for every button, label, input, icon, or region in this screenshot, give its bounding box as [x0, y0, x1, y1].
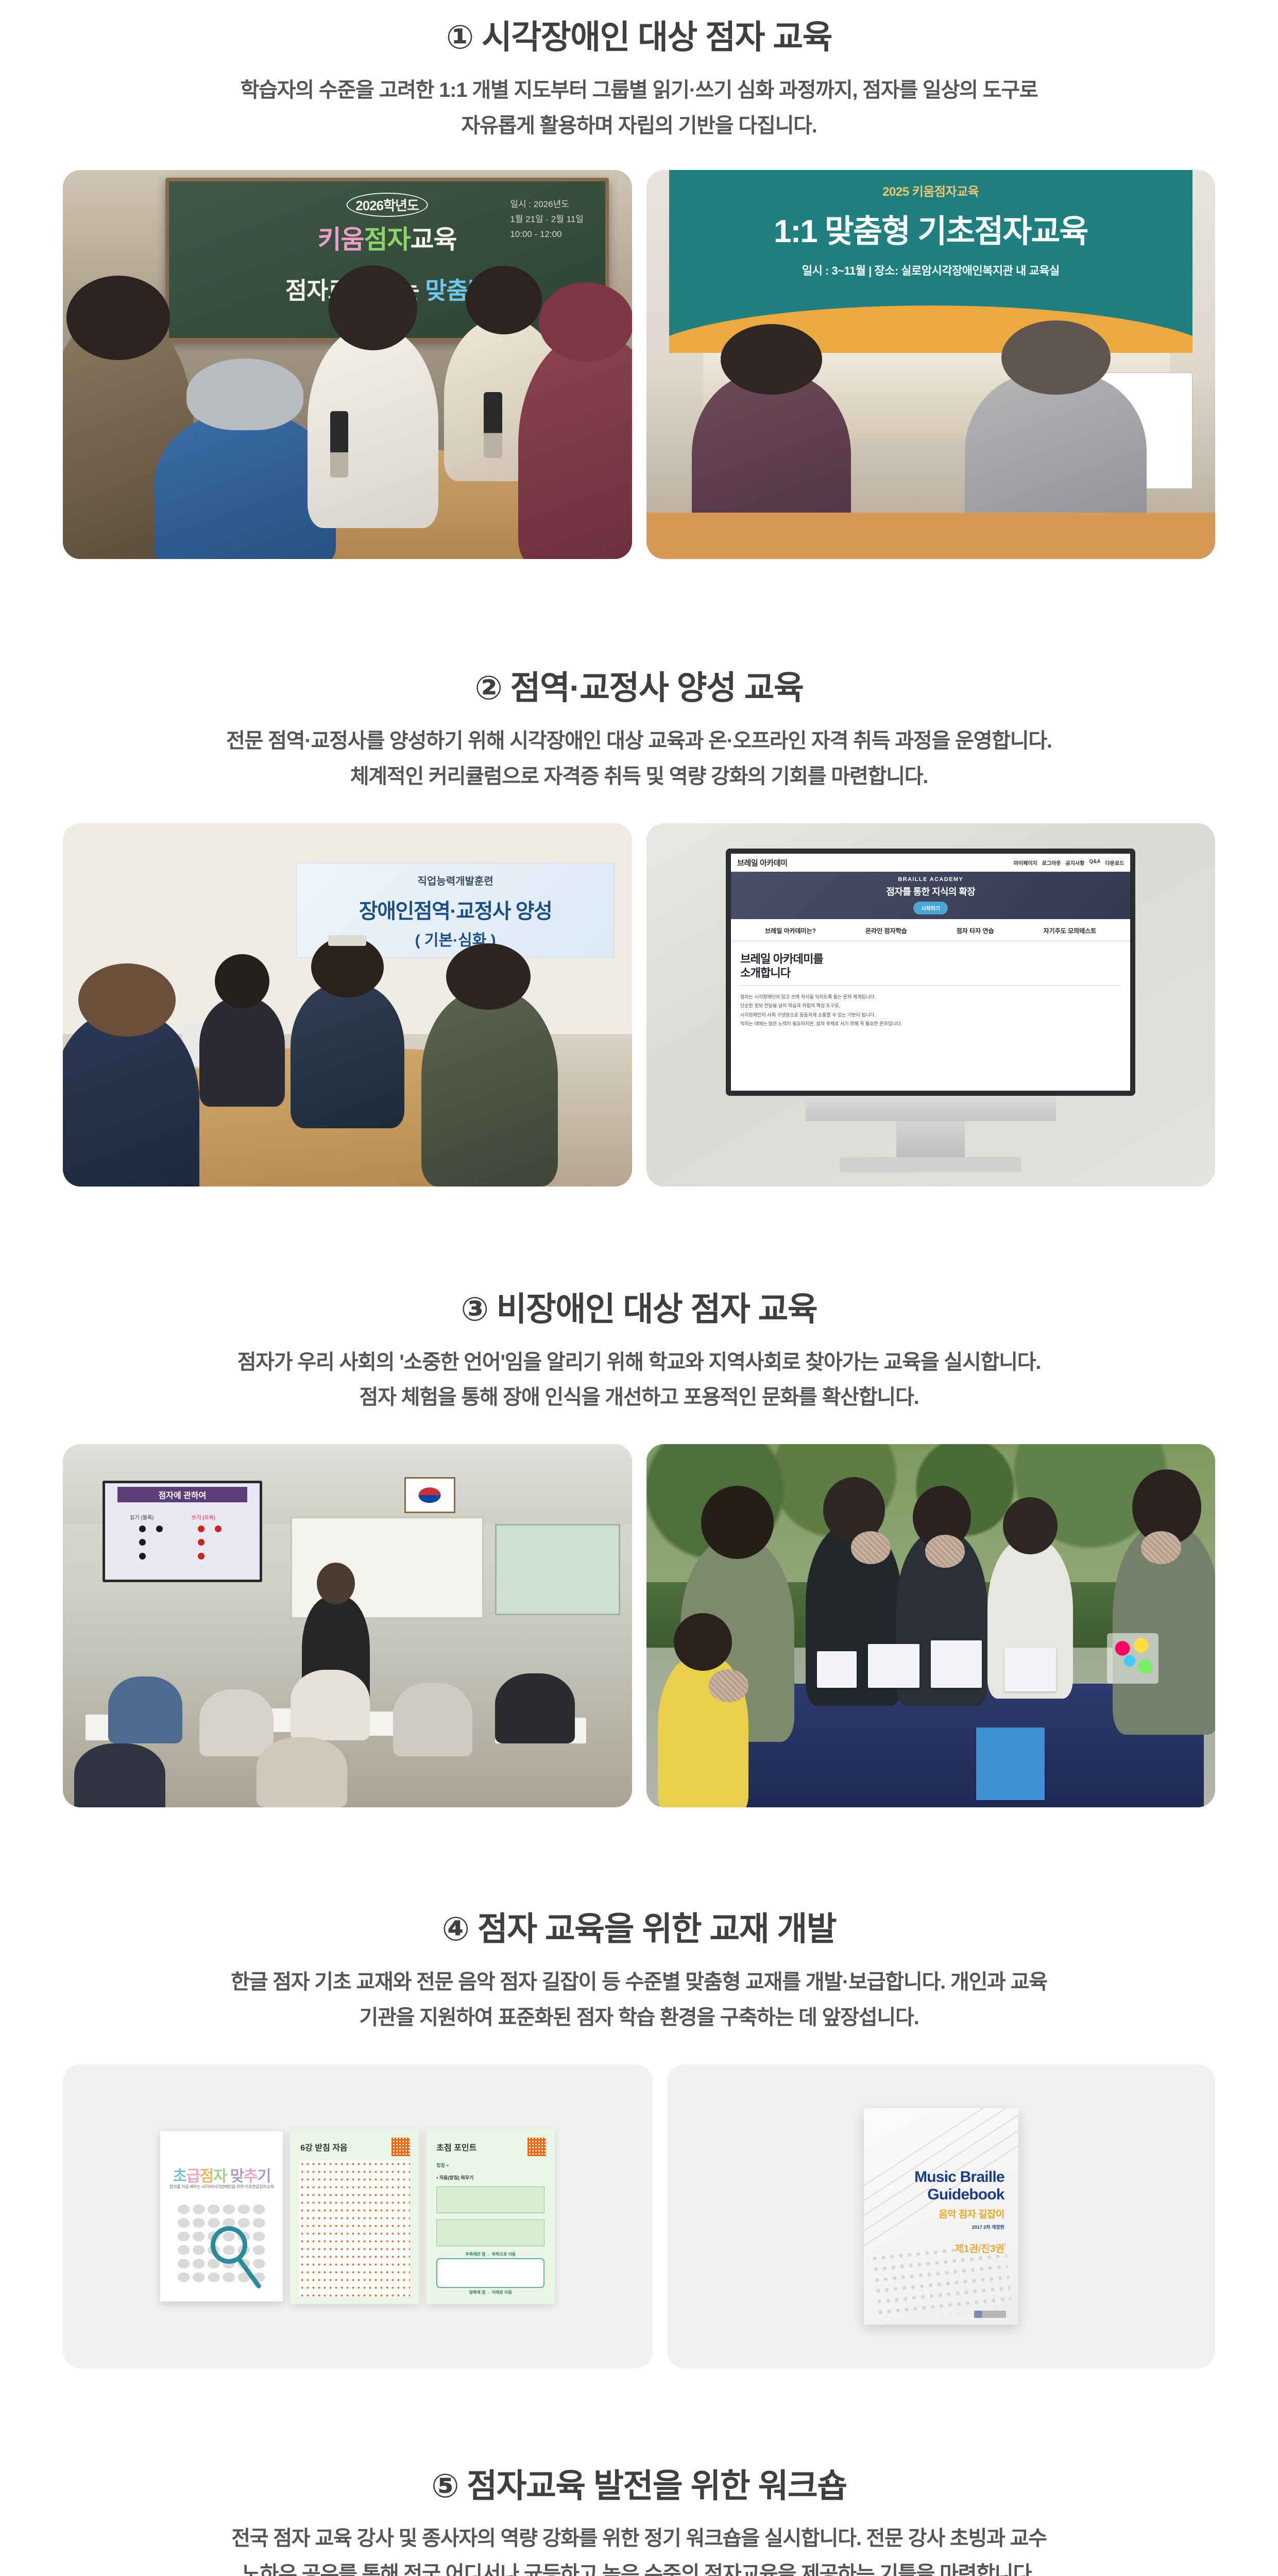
nav-item-qna[interactable]: Q&A — [1089, 859, 1100, 867]
booth-leaflet-2 — [868, 1644, 919, 1688]
thermos-center — [330, 411, 348, 477]
slide-title: 점자에 관하여 — [117, 1487, 247, 1502]
blurred-face-4 — [1141, 1531, 1181, 1564]
section-4: ④ 점자 교육을 위한 교재 개발 한글 점자 기초 교재와 전문 음악 점자 … — [0, 1807, 1278, 2368]
textbook-cover-title: 초급점자 맞추기 — [160, 2163, 283, 2186]
textbook-cover: 초급점자 맞추기 점자를 처음 배우는 시각/비시각장애인을 위한 기초한글점자… — [160, 2131, 283, 2301]
magnifier-lens-icon — [211, 2226, 247, 2264]
section-3-desc-line-1: 점자가 우리 사회의 '소중한 언어'임을 알리기 위해 학교와 지역사회로 찾… — [72, 1345, 1206, 1380]
textbook-cover-subtitle: 점자를 처음 배우는 시각/비시각장애인을 위한 기초한글점자교재 — [160, 2184, 283, 2190]
person-center-head — [329, 265, 418, 350]
site-body-heading-1: 브레일 아카데미를 — [740, 953, 1121, 967]
teal-banner-top: 2025 키움점자교육 — [669, 181, 1192, 199]
section-3-desc-line-2: 점자 체험을 통해 장애 인식을 개선하고 포용적인 문화를 확산합니다. — [72, 1380, 1206, 1415]
taegeuk-circle — [419, 1487, 441, 1503]
site-tabs: 브레일 아카데미는? 온라인 점자학습 점자 타자 연습 자기주도 모의테스트 — [731, 919, 1130, 941]
student-1 — [108, 1676, 182, 1743]
section-1-desc-line-1: 학습자의 수준을 고려한 1:1 개별 지도부터 그룹별 읽기·쓰기 심화 과정… — [72, 73, 1206, 108]
site-logo[interactable]: 브레일 아카데미 — [737, 857, 788, 868]
section-5-head: ⑤ 점자교육 발전을 위한 워크숍 전국 점자 교육 강사 및 종사자의 역량 … — [0, 2466, 1278, 2576]
blurred-face-1 — [709, 1669, 748, 1702]
section-2-head: ② 점역·교정사 양성 교육 전문 점역·교정사를 양성하기 위해 시각장애인 … — [0, 668, 1278, 794]
page-2-bullet: • 자음(받침) 외우기 — [436, 2174, 473, 2181]
student-6 — [257, 1737, 348, 1807]
section-4-desc-line-2: 기관을 지원하여 표준화된 점자 학습 환경을 구축하는 데 앞장섭니다. — [72, 2000, 1206, 2036]
classroom-display: 점자에 관하여 읽기 (볼록) 쓰기 (오목) — [103, 1481, 262, 1582]
cover-char-4: 자 — [213, 2168, 227, 2185]
trainee-right-head — [446, 943, 531, 1010]
booth-leaflet-3 — [931, 1640, 982, 1688]
braille-dot-1 — [139, 1526, 146, 1532]
person-back-right-head — [466, 266, 542, 334]
page-2-tip: 팁칭 + — [436, 2162, 449, 2168]
chalkboard-title-1: 키움 — [318, 225, 364, 254]
page-2-note-1: 우측에만 점 → 좌측으로 이동 — [426, 2251, 555, 2257]
cover-char-5: 맞 — [230, 2168, 244, 2185]
training-banner-main: 장애인점역·교정사 양성 — [297, 894, 615, 924]
person-front-left-head — [186, 359, 303, 430]
qr-code-icon-1 — [391, 2138, 410, 2156]
chalkboard-info-1: 일시 : 2026년도 — [510, 197, 584, 212]
section-2-desc-line-2: 체계적인 커리큘럼으로 자격증 취득 및 역량 강화의 기회를 마련합니다. — [72, 759, 1206, 794]
braille-dot-3 — [139, 1553, 146, 1560]
guidebook-edition: 2017 2차 개정판 — [864, 2224, 1004, 2230]
section-5-desc-line-2: 노하우 공유를 통해 전국 어디서나 균등하고 높은 수준의 점자교육을 제공하… — [72, 2556, 1206, 2576]
nav-item-notice[interactable]: 공지사항 — [1066, 859, 1085, 867]
monitor-neck — [896, 1121, 965, 1161]
section-4-desc-line-1: 한글 점자 기초 교재와 전문 음악 점자 길잡이 등 수준별 맞춤형 교재를 … — [72, 1964, 1206, 2000]
booth-braille-card — [976, 1727, 1045, 1800]
section-4-description: 한글 점자 기초 교재와 전문 음악 점자 길잡이 등 수준별 맞춤형 교재를 … — [72, 1964, 1206, 2036]
cover-char-3: 점 — [200, 2168, 213, 2185]
page-2-diagram-1 — [436, 2258, 544, 2288]
cover-char-2: 급 — [186, 2168, 200, 2185]
nav-item-download[interactable]: 다운로드 — [1105, 859, 1124, 867]
visitor-3-head — [1003, 1497, 1058, 1555]
student-left-head — [721, 324, 823, 395]
photo-1a-content: 2026학년도 키움점자교육 점자로 배우는 맞춤법 일시 : 2026년도 1… — [63, 170, 632, 559]
trainee-right — [421, 990, 558, 1187]
photo-3b-content — [646, 1444, 1216, 1807]
cover-space — [227, 2168, 230, 2185]
chalkboard-title: 키움점자교육 — [318, 219, 457, 256]
braille-dot-8 — [215, 1526, 221, 1532]
slide-label-left: 읽기 (볼록) — [130, 1513, 154, 1521]
trainee-center — [291, 983, 404, 1128]
thermos-right — [484, 392, 502, 458]
instructor-head — [317, 1563, 355, 1604]
photo-school-braille-lesson: 점자에 관하여 읽기 (볼록) 쓰기 (오목) — [63, 1444, 632, 1807]
textbook-page-consonants: 6강 받침 자음 — [290, 2129, 419, 2304]
booth-leaflet-1 — [817, 1651, 857, 1688]
person-center — [308, 326, 438, 528]
monitor-base — [840, 1157, 1021, 1172]
section-2-title: ② 점역·교정사 양성 교육 — [72, 668, 1206, 708]
trainee-back-left-head — [215, 954, 269, 1009]
person-right-head — [539, 282, 632, 362]
textbook-page-focus-points: 초점 포인트 팁칭 + • 자음(받침) 외우기 우측에만 점 → 좌측으로 이… — [426, 2129, 555, 2304]
class-notice-board — [495, 1524, 620, 1615]
section-1-photo-row: 2026학년도 키움점자교육 점자로 배우는 맞춤법 일시 : 2026년도 1… — [0, 170, 1278, 559]
page-1-braille-grid — [299, 2160, 410, 2297]
section-1-desc-line-2: 자유롭게 활용하며 자립의 기반을 다집니다. — [72, 108, 1206, 144]
tab-typing-practice[interactable]: 점자 타자 연습 — [957, 926, 994, 935]
korean-flag — [404, 1477, 455, 1514]
student-right-head — [1001, 320, 1111, 395]
site-nav: 마이페이지 로그아웃 공지사항 Q&A 다운로드 — [1014, 859, 1124, 867]
student-2 — [199, 1689, 274, 1756]
cover-char-1: 초 — [173, 2168, 186, 2185]
section-4-materials-row: 초급점자 맞추기 점자를 처음 배우는 시각/비시각장애인을 위한 기초한글점자… — [0, 2064, 1278, 2368]
page-1-heading: 6강 받침 자음 — [300, 2141, 347, 2153]
page-2-consonant-table-1 — [436, 2187, 544, 2213]
section-3-description: 점자가 우리 사회의 '소중한 언어'임을 알리기 위해 학교와 지역사회로 찾… — [72, 1345, 1206, 1416]
booth-leaflet-4 — [1004, 1648, 1055, 1691]
child-visitor-head — [674, 1613, 732, 1671]
page-2-consonant-table-2 — [436, 2219, 544, 2246]
chalkboard-info-3: 10:00 - 12:00 — [510, 227, 584, 242]
trainee-foreground-head — [78, 963, 176, 1037]
guidebook-title-line-2: Guidebook — [864, 2186, 1004, 2204]
braille-dot-2 — [139, 1539, 146, 1546]
chalkboard-title-3: 교육 — [411, 225, 457, 254]
publisher-logo — [974, 2311, 1006, 2318]
student-7 — [74, 1743, 165, 1807]
study-desk — [646, 513, 1216, 560]
music-braille-guidebook-cover: Music Braille Guidebook 음악 점자 길잡이 2017 2… — [864, 2108, 1018, 2325]
hero-start-button[interactable]: 시작하기 — [913, 902, 948, 914]
trainee-center-head — [311, 937, 384, 997]
site-body-divider — [740, 985, 1121, 986]
hero-english-title: BRAILLE ACADEMY — [898, 876, 963, 883]
site-paragraph-2: 단순한 정보 전달을 넘어 학습과 자립의 핵심 도구로, — [740, 1002, 1121, 1011]
site-body-heading-2: 소개합니다 — [740, 967, 1121, 980]
chalkboard-year: 2026학년도 — [346, 193, 428, 217]
section-3-photo-row: 점자에 관하여 읽기 (볼록) 쓰기 (오목) — [0, 1444, 1278, 1807]
cover-char-6: 추 — [244, 2168, 257, 2185]
trainee-back-left — [199, 997, 285, 1107]
tab-about[interactable]: 브레일 아카데미는? — [765, 926, 816, 935]
section-3-title: ③ 비장애인 대상 점자 교육 — [72, 1290, 1206, 1329]
trainee-foreground — [63, 1012, 199, 1186]
photo-community-braille-booth — [646, 1444, 1216, 1807]
photo-braille-class-chalkboard: 2026학년도 키움점자교육 점자로 배우는 맞춤법 일시 : 2026년도 1… — [63, 170, 632, 559]
material-box-music-guidebook: Music Braille Guidebook 음악 점자 길잡이 2017 2… — [667, 2064, 1216, 2368]
site-header: 브레일 아카데미 마이페이지 로그아웃 공지사항 Q&A 다운로드 — [731, 854, 1130, 872]
slide-screen: 점자에 관하여 읽기 (볼록) 쓰기 (오목) — [105, 1483, 259, 1580]
section-2-description: 전문 점역·교정사를 양성하기 위해 시각장애인 대상 교육과 온·오프라인 자… — [72, 723, 1206, 794]
braille-dot-6 — [198, 1539, 205, 1546]
chalkboard-title-2: 점자 — [364, 225, 411, 254]
qr-code-icon-2 — [527, 2138, 546, 2156]
nav-item-mypage[interactable]: 마이페이지 — [1014, 859, 1037, 867]
section-5-description: 전국 점자 교육 강사 및 종사자의 역량 강화를 위한 정기 워크숍을 실시합… — [72, 2521, 1206, 2576]
section-2-photo-row: 직업능력개발훈련 장애인점역·교정사 양성 ( 기본·심화 ) — [0, 823, 1278, 1187]
site-hero: BRAILLE ACADEMY 점자를 통한 지식의 확장 시작하기 — [731, 872, 1130, 919]
booth-staff-left-head — [701, 1486, 774, 1559]
photo-braille-academy-website: 브레일 아카데미 마이페이지 로그아웃 공지사항 Q&A 다운로드 — [646, 823, 1216, 1187]
page-2-note-2: 양측에 점 → 아래로 이동 — [426, 2290, 555, 2295]
section-5-title: ⑤ 점자교육 발전을 위한 워크숍 — [72, 2466, 1206, 2506]
teal-banner-main: 1:1 맞춤형 기초점자교육 — [669, 205, 1192, 251]
site-paragraph-1: 점자는 시각장애인이 읽고 쓰며 지식을 익히도록 돕는 문자 체계입니다. — [740, 993, 1121, 1002]
section-3: ③ 비장애인 대상 점자 교육 점자가 우리 사회의 '소중한 언어'임을 알리… — [0, 1187, 1278, 1807]
section-5-desc-line-1: 전국 점자 교육 강사 및 종사자의 역량 강화를 위한 정기 워크숍을 실시합… — [72, 2521, 1206, 2556]
hero-korean-title: 점자를 통한 지식의 확장 — [886, 885, 975, 898]
section-4-head: ④ 점자 교육을 위한 교재 개발 한글 점자 기초 교재와 전문 음악 점자 … — [0, 1909, 1278, 2035]
student-desks-area — [63, 1648, 632, 1807]
photo-2b-content: 브레일 아카데미 마이페이지 로그아웃 공지사항 Q&A 다운로드 — [646, 823, 1216, 1187]
photo-one-to-one-basic-braille: 2025 키움점자교육 1:1 맞춤형 기초점자교육 일시 : 3~11월 | … — [646, 170, 1216, 559]
section-1-description: 학습자의 수준을 고려한 1:1 개별 지도부터 그룹별 읽기·쓰기 심화 과정… — [72, 73, 1206, 144]
braille-dot-5 — [198, 1526, 205, 1532]
tab-mock-test[interactable]: 자기주도 모의테스트 — [1044, 926, 1097, 935]
section-3-head: ③ 비장애인 대상 점자 교육 점자가 우리 사회의 '소중한 언어'임을 알리… — [0, 1290, 1278, 1415]
chalkboard-info: 일시 : 2026년도 1월 21일 · 2월 11일 10:00 - 12:0… — [510, 197, 584, 242]
prize-capsule-jar — [1107, 1633, 1158, 1684]
tab-online-learning[interactable]: 온라인 점자학습 — [865, 926, 907, 935]
website-screen: 브레일 아카데미 마이페이지 로그아웃 공지사항 Q&A 다운로드 — [731, 854, 1130, 1090]
training-banner-top: 직업능력개발훈련 — [297, 873, 615, 888]
blurred-face-3 — [925, 1535, 965, 1567]
section-1: ① 시각장애인 대상 점자 교육 학습자의 수준을 고려한 1:1 개별 지도부… — [0, 0, 1278, 559]
student-5 — [495, 1673, 575, 1743]
chalkboard-info-2: 1월 21일 · 2월 11일 — [510, 212, 584, 227]
section-1-title: ① 시각장애인 대상 점자 교육 — [72, 18, 1206, 57]
sunglasses-icon — [328, 935, 366, 945]
person-left-head — [66, 276, 170, 360]
section-2: ② 점역·교정사 양성 교육 전문 점역·교정사를 양성하기 위해 시각장애인 … — [0, 559, 1278, 1186]
braille-dot-7 — [198, 1553, 205, 1560]
photo-braille-transcriber-training: 직업능력개발훈련 장애인점역·교정사 양성 ( 기본·심화 ) — [63, 823, 632, 1187]
material-box-beginner-textbook: 초급점자 맞추기 점자를 처음 배우는 시각/비시각장애인을 위한 기초한글점자… — [63, 2064, 653, 2368]
section-1-head: ① 시각장애인 대상 점자 교육 학습자의 수준을 고려한 1:1 개별 지도부… — [0, 18, 1278, 143]
nav-item-logout[interactable]: 로그아웃 — [1042, 859, 1061, 867]
photo-2a-content: 직업능력개발훈련 장애인점역·교정사 양성 ( 기본·심화 ) — [63, 823, 632, 1187]
brochure-page: ① 시각장애인 대상 점자 교육 학습자의 수준을 고려한 1:1 개별 지도부… — [0, 0, 1278, 2576]
page-2-heading: 초점 포인트 — [436, 2141, 476, 2153]
section-5: ⑤ 점자교육 발전을 위한 워크숍 전국 점자 교육 강사 및 종사자의 역량 … — [0, 2368, 1278, 2576]
student-3 — [291, 1670, 370, 1740]
section-2-desc-line-1: 전문 점역·교정사를 양성하기 위해 시각장애인 대상 교육과 온·오프라인 자… — [72, 723, 1206, 759]
monitor-stand — [806, 1096, 1056, 1121]
slide-label-right: 쓰기 (오목) — [192, 1513, 215, 1521]
guidebook-title-line-1: Music Braille — [864, 2168, 1004, 2186]
guidebook-subtitle: 음악 점자 길잡이 — [864, 2207, 1004, 2221]
blurred-face-2 — [851, 1531, 891, 1564]
cover-char-7: 기 — [257, 2168, 270, 2185]
braille-dot-4 — [156, 1526, 163, 1532]
photo-1b-content: 2025 키움점자교육 1:1 맞춤형 기초점자교육 일시 : 3~11월 | … — [646, 170, 1216, 559]
site-body: 브레일 아카데미를 소개합니다 점자는 시각장애인이 읽고 쓰며 지식을 익히도… — [731, 941, 1130, 1040]
photo-3a-content: 점자에 관하여 읽기 (볼록) 쓰기 (오목) — [63, 1444, 632, 1807]
monitor-bezel: 브레일 아카데미 마이페이지 로그아웃 공지사항 Q&A 다운로드 — [726, 849, 1135, 1095]
teal-banner: 2025 키움점자교육 1:1 맞춤형 기초점자교육 일시 : 3~11월 | … — [669, 170, 1192, 353]
site-paragraph-4: 익히는 데에는 많은 노력이 필요하지만, 삶의 주체로 서기 위해 꼭 필요한… — [740, 1020, 1121, 1029]
teal-banner-sub: 일시 : 3~11월 | 장소: 실로암시각장애인복지관 내 교육실 — [669, 262, 1192, 278]
site-paragraph-3: 시각장애인이 사회 구성원으로 동등하게 소통할 수 있는 기반이 됩니다. — [740, 1011, 1121, 1020]
section-4-title: ④ 점자 교육을 위한 교재 개발 — [72, 1909, 1206, 1949]
student-4 — [393, 1683, 473, 1756]
